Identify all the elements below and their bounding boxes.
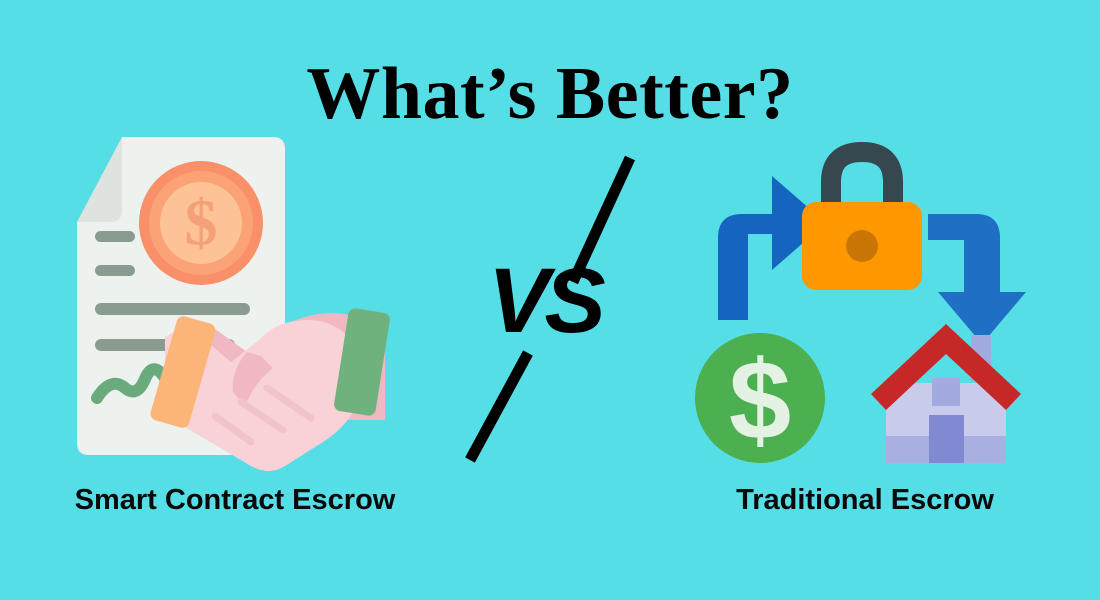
money-dollar-icon: $ [729, 338, 791, 463]
arrow-out-icon [928, 214, 1026, 344]
right-panel-label: Traditional Escrow [670, 482, 1060, 518]
coin-dollar-sign-icon: $ [185, 187, 218, 260]
smart-contract-escrow-illustration: $ [55, 130, 435, 470]
padlock-keyhole-icon [846, 230, 878, 262]
left-panel-label: Smart Contract Escrow [20, 482, 450, 518]
page-title: What’s Better? [0, 52, 1100, 136]
vs-label: VS [488, 255, 601, 347]
vs-divider: VS [440, 140, 665, 480]
left-comparison-panel: $ [55, 130, 435, 470]
document-folded-corner-icon [77, 137, 122, 222]
document-text-line-icon [95, 303, 250, 315]
house-window-icon [932, 378, 960, 406]
slash-line-bottom-icon [470, 353, 528, 460]
infographic-canvas: What’s Better? $ [0, 0, 1100, 600]
right-comparison-panel: $ [690, 130, 1040, 470]
traditional-escrow-illustration: $ [690, 130, 1040, 470]
document-text-line-icon [95, 231, 135, 242]
padlock-shackle-icon [831, 152, 893, 210]
document-text-line-icon [95, 265, 135, 276]
house-door-icon [929, 415, 964, 463]
